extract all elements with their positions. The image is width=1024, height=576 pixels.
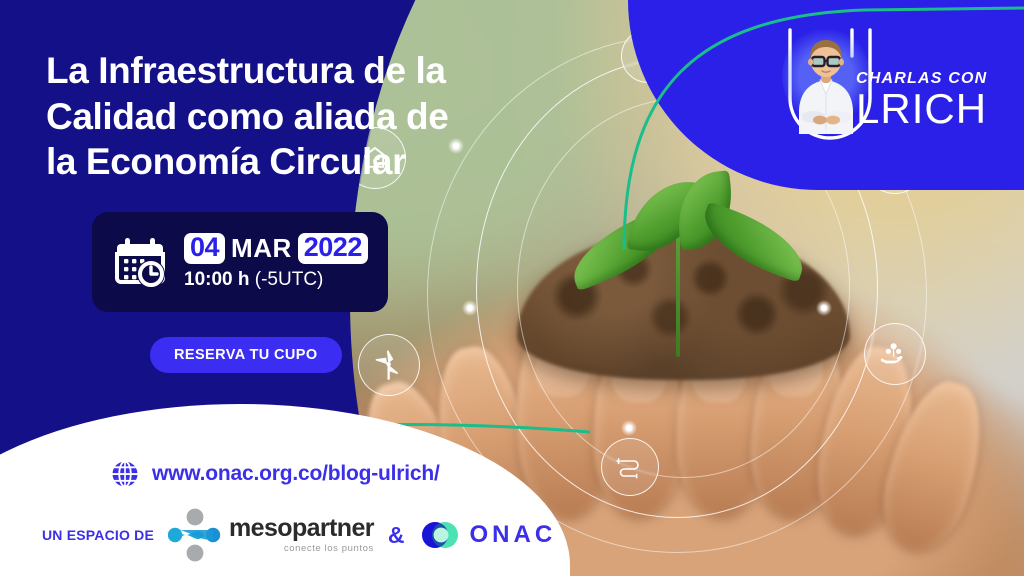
sponsor-label: UN ESPACIO DE [42,527,154,543]
poster-canvas: CHARLAS CON LRICH La Infraestructura de … [0,0,1024,576]
wind-turbine-icon [358,334,420,396]
headline-line-1: La Infraestructura de la [46,48,526,94]
power-cord-icon [601,438,659,496]
mesopartner-dots-icon [168,508,222,562]
page-title: La Infraestructura de la Calidad como al… [46,48,526,185]
event-time: 10:00 h [184,269,249,290]
event-time-row: 10:00 h (-5UTC) [184,269,368,291]
headline-line-3: la Economía Circular [46,139,526,185]
mesopartner-name: mesopartner [229,516,374,541]
event-timezone: (-5UTC) [255,269,324,290]
onac-name: ONAC [470,521,557,549]
hand-plant-icon [864,323,926,385]
headline-line-2: Calidad como aliada de [46,94,526,140]
onac-logo: ONAC [419,514,557,556]
reserve-spot-button[interactable]: RESERVA TU CUPO [150,337,342,373]
globe-icon [110,459,140,489]
event-month: MAR [231,233,292,264]
event-date-card: 04 MAR 2022 10:00 h (-5UTC) [92,212,388,312]
event-year: 2022 [298,233,368,264]
onac-mark-icon [419,514,461,556]
ulrich-avatar [790,34,862,134]
event-day: 04 [184,233,225,264]
mesopartner-tagline: conecte los puntos [229,544,374,554]
partners-row: UN ESPACIO DE mesopartner conecte los pu… [42,508,556,562]
node-spark [816,300,832,316]
calendar-clock-icon [110,232,170,292]
website-url-text: www.onac.org.co/blog-ulrich/ [152,462,440,486]
logo-brand-name: LRICH [856,88,987,130]
website-link[interactable]: www.onac.org.co/blog-ulrich/ [110,459,440,489]
ampersand: & [388,522,405,549]
charlas-con-ulrich-logo: CHARLAS CON LRICH [760,20,1000,148]
mesopartner-logo: mesopartner conecte los puntos [168,508,374,562]
node-spark [462,300,478,316]
